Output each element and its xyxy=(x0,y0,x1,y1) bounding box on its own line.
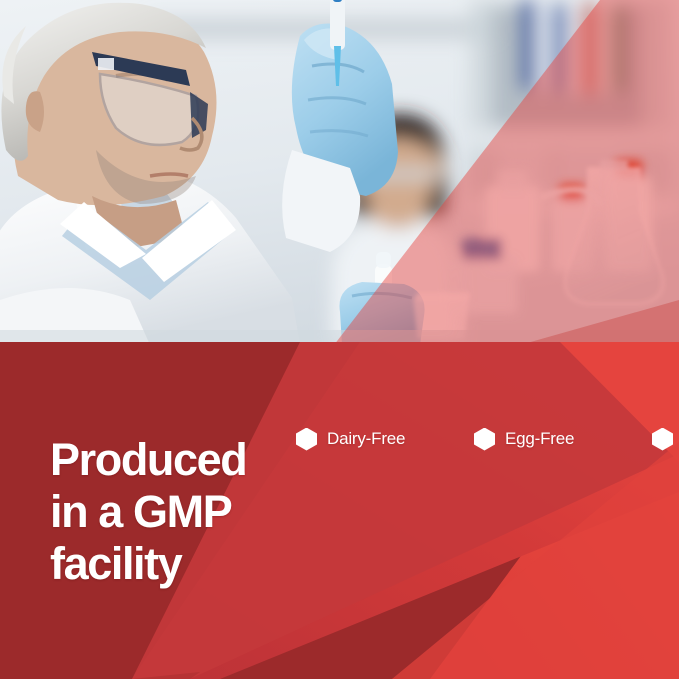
laboratory-photo xyxy=(0,0,679,345)
hexagon-icon xyxy=(652,428,673,451)
hexagon-icon xyxy=(296,428,317,451)
page-title: Produced in a GMP facility xyxy=(50,434,290,590)
claim-item-egg-free: Egg-Free xyxy=(474,416,652,462)
allergen-claims-list: Dairy-Free Egg-Free Nut-Free Gluten-Free xyxy=(296,416,666,462)
claim-label: Dairy-Free xyxy=(327,429,405,449)
panel-content: Produced in a GMP facility Dairy-Free Eg… xyxy=(0,342,679,679)
gmp-claims-panel: Produced in a GMP facility Dairy-Free Eg… xyxy=(0,342,679,679)
hexagon-icon xyxy=(474,428,495,451)
laboratory-photo-illustration xyxy=(0,0,679,345)
claim-label: Egg-Free xyxy=(505,429,574,449)
gmp-facility-poster: Produced in a GMP facility Dairy-Free Eg… xyxy=(0,0,679,679)
claim-item-nut-free: Nut-Free xyxy=(652,416,679,462)
claim-item-dairy-free: Dairy-Free xyxy=(296,416,474,462)
